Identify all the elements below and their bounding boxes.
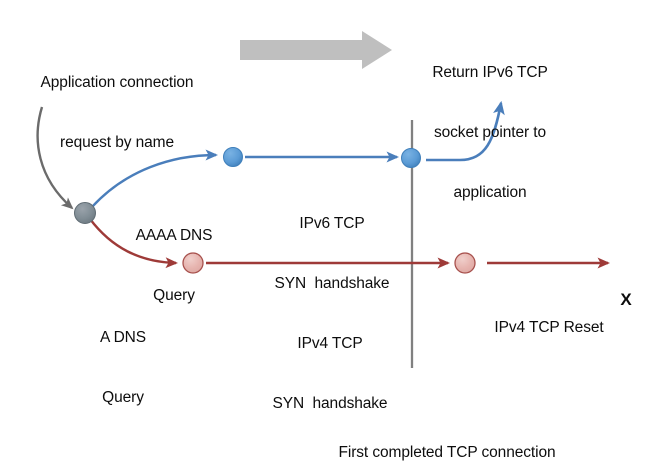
ipv6-connected-dot — [402, 149, 421, 168]
return-socket-label: Return IPv6 TCP socket pointer to applic… — [432, 23, 547, 243]
a-dns-query-label-line1: A DNS — [100, 328, 146, 348]
return-socket-label-line3: application — [432, 183, 547, 203]
app-request-label-line1: Application connection — [41, 73, 194, 93]
connection-failure-x-text: X — [617, 290, 636, 310]
footer-caption: First completed TCP connection is return… — [339, 403, 556, 469]
aaaa-dns-query-label-line2: Query — [136, 286, 213, 306]
connection-failure-x-marker: X — [617, 250, 636, 350]
a-dns-query-label: A DNS Query — [100, 288, 146, 448]
a-dns-query-label-line2: Query — [100, 388, 146, 408]
return-socket-label-line2: socket pointer to — [432, 123, 547, 143]
ipv4-handshake-label-line1: IPv4 TCP — [273, 334, 388, 354]
ipv4-reset-label-text: IPv4 TCP Reset — [494, 318, 603, 338]
ipv6-dns-result-dot — [224, 148, 243, 167]
return-socket-label-line1: Return IPv6 TCP — [432, 63, 547, 83]
aaaa-dns-query-label-line1: AAAA DNS — [136, 226, 213, 246]
diagram-canvas: Application connection request by name R… — [0, 0, 666, 469]
ipv4-connected-dot — [455, 253, 475, 273]
ipv4-reset-label: IPv4 TCP Reset — [494, 278, 603, 378]
ipv6-handshake-label-line1: IPv6 TCP — [275, 214, 390, 234]
footer-caption-line1: First completed TCP connection — [339, 443, 556, 463]
app-request-label: Application connection request by name — [41, 33, 194, 193]
app-request-label-line2: request by name — [41, 133, 194, 153]
aaaa-dns-query-label: AAAA DNS Query — [136, 186, 213, 346]
ipv6-handshake-label-line2: SYN handshake — [275, 274, 390, 294]
gray-block-arrow-icon — [240, 31, 392, 69]
origin-node-dot — [75, 203, 96, 224]
